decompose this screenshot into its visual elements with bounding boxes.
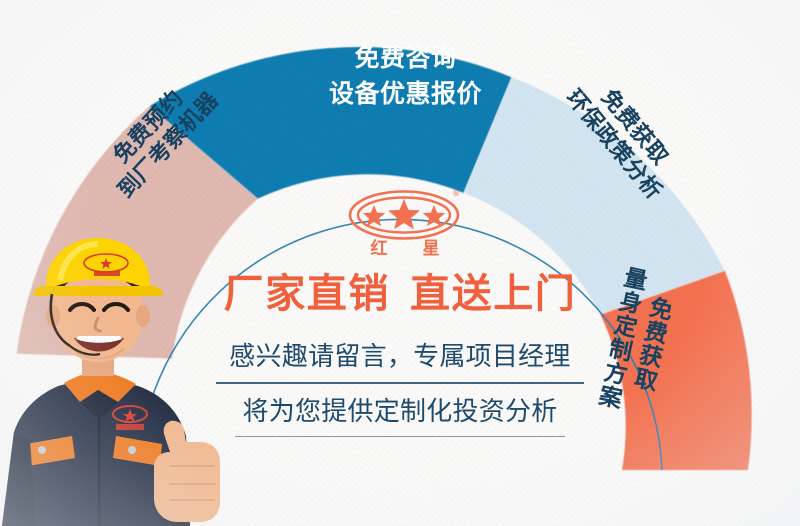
headline-part-2: 直送上门: [410, 271, 576, 317]
promo-banner: 免费预约 到厂考察机器 免费咨询 设备优惠报价 免费获取 环保政策分析 免费获取…: [0, 0, 800, 526]
segment-label-free-consultation: 免费咨询 设备优惠报价: [329, 40, 482, 113]
star-icon: [388, 199, 420, 229]
divider-top: [216, 382, 584, 384]
segment-line-1: 免费咨询: [329, 40, 482, 76]
registered-mark: ®: [452, 189, 460, 198]
star-icon: [363, 205, 386, 226]
segment-line-2: 设备优惠报价: [329, 76, 482, 112]
hongxing-logo: ® 红 星: [345, 186, 463, 260]
subtitle-line-1: 感兴趣请留言，专属项目经理: [196, 336, 604, 373]
logo-char-hong: 红: [371, 238, 388, 259]
center-message: 厂家直销直送上门 感兴趣请留言，专属项目经理 将为您提供定制化投资分析: [196, 272, 604, 437]
headline-part-1: 厂家直销: [224, 271, 390, 317]
subtitle-line-2: 将为您提供定制化投资分析: [196, 391, 604, 428]
hard-hat-icon: [33, 238, 162, 296]
star-icon: [423, 205, 446, 226]
logo-char-xing: 星: [423, 239, 440, 259]
headline: 厂家直销直送上门: [196, 272, 604, 316]
divider-bottom: [235, 436, 565, 437]
smiling-worker-thumbs-up: [0, 236, 236, 526]
